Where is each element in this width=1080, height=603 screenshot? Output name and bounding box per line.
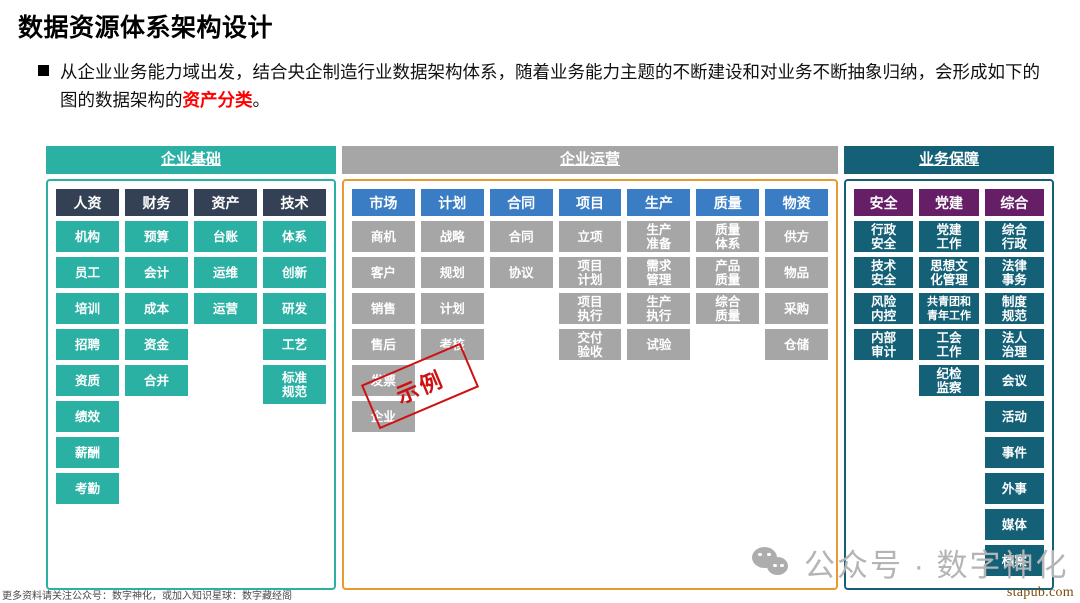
cell-item[interactable]: 合并 [125, 365, 188, 396]
column-head-anquan[interactable]: 安全 [854, 189, 913, 216]
column-head-caiwu[interactable]: 财务 [125, 189, 188, 216]
cell-item[interactable]: 产品 质量 [696, 257, 759, 288]
column-head-jishu[interactable]: 技术 [263, 189, 326, 216]
cell-item[interactable]: 运营 [194, 293, 257, 324]
cell-item[interactable]: 会议 [985, 365, 1044, 396]
cell-item[interactable]: 企业 [352, 401, 415, 432]
cell-item[interactable]: 制度 规范 [985, 293, 1044, 324]
cell-item[interactable]: 预算 [125, 221, 188, 252]
cell-item[interactable]: 事件 [985, 437, 1044, 468]
group-operations-body: 市场 商机 客户 销售 售后 发票 企业 计划 战略 规划 计划 考核 合同 [342, 179, 838, 590]
cell-item[interactable]: 成本 [125, 293, 188, 324]
cell-item[interactable]: 员工 [56, 257, 119, 288]
cell-item[interactable]: 体系 [263, 221, 326, 252]
column-head-wuzi[interactable]: 物资 [765, 189, 828, 216]
cell-item[interactable]: 商机 [352, 221, 415, 252]
cell-item[interactable]: 机构 [56, 221, 119, 252]
cell-item[interactable]: 考勤 [56, 473, 119, 504]
bullet-paragraph: 从企业业务能力域出发，结合央企制造行业数据架构体系，随着业务能力主题的不断建设和… [38, 58, 1058, 114]
cell-item[interactable]: 试验 [627, 329, 690, 360]
cell-item[interactable]: 媒体 [985, 509, 1044, 540]
column-head-zonghe[interactable]: 综合 [985, 189, 1044, 216]
cell-item[interactable]: 客户 [352, 257, 415, 288]
cell-item[interactable]: 采购 [765, 293, 828, 324]
column-head-hetong[interactable]: 合同 [490, 189, 553, 216]
cell-item[interactable]: 创新 [263, 257, 326, 288]
cell-item[interactable]: 行政 安全 [854, 221, 913, 252]
group-operations-title: 企业运营 [342, 146, 838, 174]
cell-item[interactable]: 工艺 [263, 329, 326, 360]
cell-item[interactable]: 售后 [352, 329, 415, 360]
cell-item[interactable]: 招聘 [56, 329, 119, 360]
corner-brand: stapub.com [1007, 585, 1074, 601]
column-hetong: 合同 合同 协议 [490, 189, 553, 432]
cell-item[interactable]: 法人 治理 [985, 329, 1044, 360]
cell-item[interactable]: 计划 [421, 293, 484, 324]
cell-item[interactable]: 规划 [421, 257, 484, 288]
group-foundation-title: 企业基础 [46, 146, 336, 174]
group-foundation-body: 人资 机构 员工 培训 招聘 资质 绩效 薪酬 考勤 财务 预算 会计 成本 资… [46, 179, 336, 590]
cell-item[interactable]: 技术 安全 [854, 257, 913, 288]
cell-item[interactable]: 台账 [194, 221, 257, 252]
cell-item[interactable]: 综合 质量 [696, 293, 759, 324]
cell-item[interactable]: 党建 工作 [919, 221, 978, 252]
cell-item[interactable]: 立项 [559, 221, 622, 252]
cell-item[interactable]: 标准 规范 [263, 365, 326, 404]
architecture-diagram: 企业基础 人资 机构 员工 培训 招聘 资质 绩效 薪酬 考勤 财务 预算 会 [0, 146, 1080, 596]
cell-item[interactable]: 共青团和 青年工作 [919, 293, 978, 324]
cell-item[interactable]: 战略 [421, 221, 484, 252]
cell-item[interactable]: 法律 事务 [985, 257, 1044, 288]
column-zhiliang: 质量 质量 体系 产品 质量 综合 质量 [696, 189, 759, 432]
column-head-dangjian[interactable]: 党建 [919, 189, 978, 216]
cell-item[interactable]: 销售 [352, 293, 415, 324]
column-zichan: 资产 台账 运维 运营 [194, 189, 257, 504]
cell-item[interactable]: 会计 [125, 257, 188, 288]
column-shichang: 市场 商机 客户 销售 售后 发票 企业 [352, 189, 415, 432]
cell-item[interactable]: 发票 [352, 365, 415, 396]
bullet-square-icon [38, 65, 49, 76]
cell-item[interactable]: 项目 执行 [559, 293, 622, 324]
column-zonghe: 综合 综合 行政 法律 事务 制度 规范 法人 治理 会议 活动 事件 外事 媒… [985, 189, 1044, 576]
group-assurance-body: 安全 行政 安全 技术 安全 风险 内控 内部 审计 党建 党建 工作 思想文 … [844, 179, 1054, 590]
cell-item[interactable]: 合同 [490, 221, 553, 252]
group-operations: 企业运营 市场 商机 客户 销售 售后 发票 企业 计划 战略 规划 计划 考 [342, 146, 838, 596]
column-head-jihua[interactable]: 计划 [421, 189, 484, 216]
cell-item[interactable]: 风险 内控 [854, 293, 913, 324]
group-assurance-columns: 安全 行政 安全 技术 安全 风险 内控 内部 审计 党建 党建 工作 思想文 … [854, 189, 1044, 576]
column-shengchan: 生产 生产 准备 需求 管理 生产 执行 试验 [627, 189, 690, 432]
cell-item[interactable]: 内部 审计 [854, 329, 913, 360]
column-head-zhiliang[interactable]: 质量 [696, 189, 759, 216]
cell-item[interactable]: 综合 行政 [985, 221, 1044, 252]
cell-item[interactable]: 生产 准备 [627, 221, 690, 252]
cell-item[interactable]: 纪检 监察 [919, 365, 978, 396]
column-head-xiangmu[interactable]: 项目 [559, 189, 622, 216]
bullet-text-tail: 。 [253, 90, 271, 110]
group-foundation-columns: 人资 机构 员工 培训 招聘 资质 绩效 薪酬 考勤 财务 预算 会计 成本 资… [56, 189, 326, 504]
cell-item[interactable]: 档案 [985, 545, 1044, 576]
cell-item[interactable]: 资质 [56, 365, 119, 396]
cell-item[interactable]: 资金 [125, 329, 188, 360]
cell-item[interactable]: 交付 验收 [559, 329, 622, 360]
column-renzi: 人资 机构 员工 培训 招聘 资质 绩效 薪酬 考勤 [56, 189, 119, 504]
cell-item[interactable]: 质量 体系 [696, 221, 759, 252]
column-jihua: 计划 战略 规划 计划 考核 [421, 189, 484, 432]
page-title: 数据资源体系架构设计 [18, 8, 273, 44]
column-head-zichan[interactable]: 资产 [194, 189, 257, 216]
cell-item[interactable]: 运维 [194, 257, 257, 288]
cell-item[interactable]: 思想文 化管理 [919, 257, 978, 288]
cell-item[interactable]: 供方 [765, 221, 828, 252]
group-operations-columns: 市场 商机 客户 销售 售后 发票 企业 计划 战略 规划 计划 考核 合同 [352, 189, 828, 432]
column-xiangmu: 项目 立项 项目 计划 项目 执行 交付 验收 [559, 189, 622, 432]
group-foundation: 企业基础 人资 机构 员工 培训 招聘 资质 绩效 薪酬 考勤 财务 预算 会 [46, 146, 336, 596]
cell-item[interactable]: 需求 管理 [627, 257, 690, 288]
cell-item[interactable]: 活动 [985, 401, 1044, 432]
bullet-text: 从企业业务能力域出发，结合央企制造行业数据架构体系，随着业务能力主题的不断建设和… [60, 58, 1045, 114]
column-head-shichang[interactable]: 市场 [352, 189, 415, 216]
column-head-renzi[interactable]: 人资 [56, 189, 119, 216]
bullet-accent-text: 资产分类 [183, 90, 253, 110]
cell-item[interactable]: 生产 执行 [627, 293, 690, 324]
cell-item[interactable]: 考核 [421, 329, 484, 360]
group-assurance-title: 业务保障 [844, 146, 1054, 174]
column-head-shengchan[interactable]: 生产 [627, 189, 690, 216]
cell-item[interactable]: 协议 [490, 257, 553, 288]
column-wuzi: 物资 供方 物品 采购 仓储 [765, 189, 828, 432]
cell-item[interactable]: 研发 [263, 293, 326, 324]
cell-item[interactable]: 培训 [56, 293, 119, 324]
column-anquan: 安全 行政 安全 技术 安全 风险 内控 内部 审计 [854, 189, 913, 576]
cell-item[interactable]: 绩效 [56, 401, 119, 432]
group-assurance: 业务保障 安全 行政 安全 技术 安全 风险 内控 内部 审计 党建 党建 工作… [844, 146, 1054, 596]
cell-item[interactable]: 薪酬 [56, 437, 119, 468]
column-jishu: 技术 体系 创新 研发 工艺 标准 规范 [263, 189, 326, 504]
column-dangjian: 党建 党建 工作 思想文 化管理 共青团和 青年工作 工会 工作 纪检 监察 [919, 189, 978, 576]
cell-item[interactable]: 项目 计划 [559, 257, 622, 288]
cell-item[interactable]: 工会 工作 [919, 329, 978, 360]
column-caiwu: 财务 预算 会计 成本 资金 合并 [125, 189, 188, 504]
cell-item[interactable]: 外事 [985, 473, 1044, 504]
cell-item[interactable]: 物品 [765, 257, 828, 288]
footer-note: 更多资料请关注公众号：数字神化，或加入知识星球：数字藏经阁 [2, 587, 292, 602]
cell-item[interactable]: 仓储 [765, 329, 828, 360]
